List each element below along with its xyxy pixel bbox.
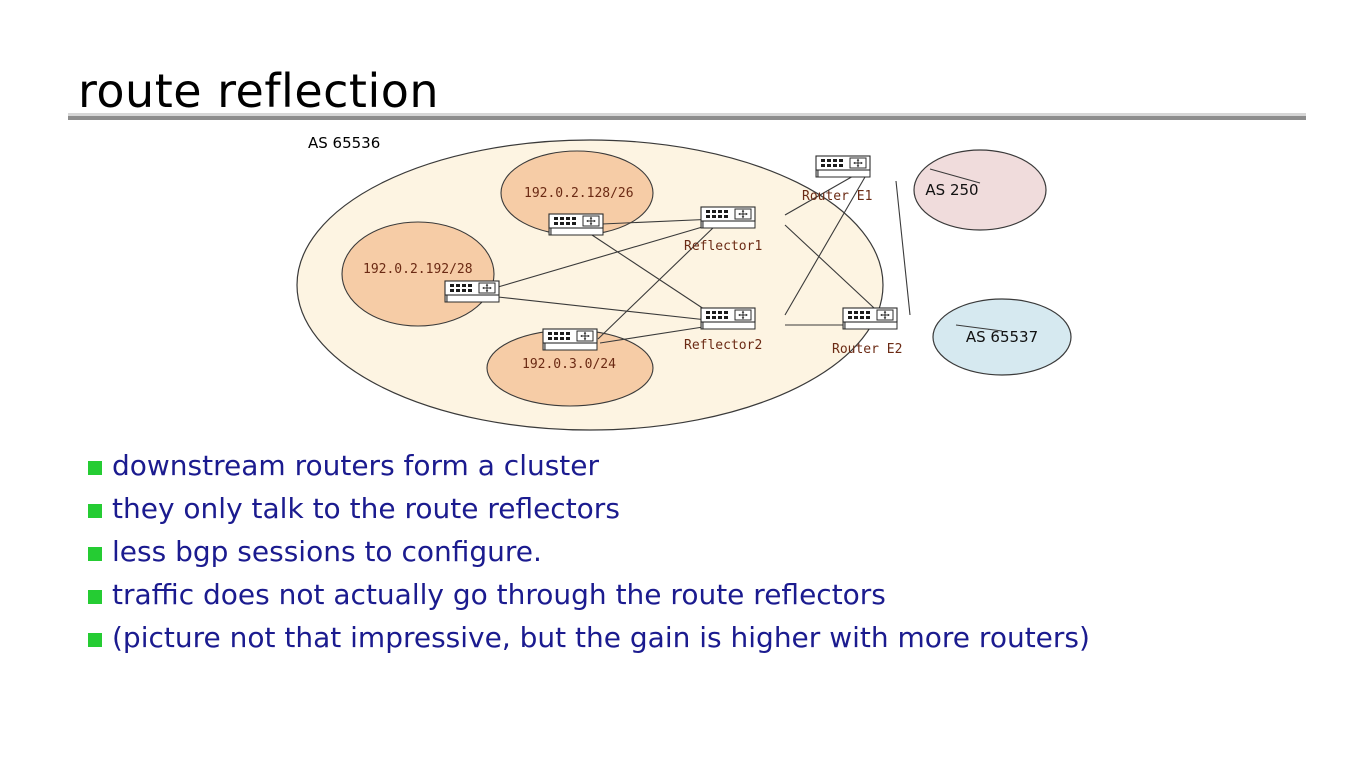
router-icon-router-e1[interactable] <box>816 156 870 177</box>
page-title: route reflection <box>78 64 439 118</box>
bullet-text: less bgp sessions to configure. <box>112 538 542 566</box>
router-label-router-e2: Router E2 <box>832 342 902 357</box>
router-icon-router-e2[interactable] <box>843 308 897 329</box>
router-label-reflector1: Reflector1 <box>684 239 762 254</box>
bullet-text: traffic does not actually go through the… <box>112 581 886 609</box>
bullet-square-icon <box>88 504 102 518</box>
subnet-label-bottom: 192.0.3.0/24 <box>522 357 616 372</box>
list-item: traffic does not actually go through the… <box>88 573 1308 616</box>
bullet-square-icon <box>88 547 102 561</box>
title-divider <box>68 113 1306 121</box>
router-icon-subnet-top[interactable] <box>549 214 603 235</box>
network-diagram: AS 65536 192.0.2.128/26 192.0.2.192/28 1… <box>280 125 1100 445</box>
list-item: downstream routers form a cluster <box>88 444 1308 487</box>
as-250-label: AS 250 <box>925 181 978 199</box>
bullet-text: they only talk to the route reflectors <box>112 495 620 523</box>
bullet-text: (picture not that impressive, but the ga… <box>112 624 1090 652</box>
router-label-reflector2: Reflector2 <box>684 338 762 353</box>
as-65537-label: AS 65537 <box>966 328 1038 346</box>
router-icon-reflector2[interactable] <box>701 308 755 329</box>
bullet-square-icon <box>88 461 102 475</box>
bullet-text: downstream routers form a cluster <box>112 452 599 480</box>
subnet-label-left: 192.0.2.192/28 <box>363 262 473 277</box>
bullet-list: downstream routers form a cluster they o… <box>88 444 1308 659</box>
subnet-label-top: 192.0.2.128/26 <box>524 186 634 201</box>
list-item: less bgp sessions to configure. <box>88 530 1308 573</box>
list-item: (picture not that impressive, but the ga… <box>88 616 1308 659</box>
list-item: they only talk to the route reflectors <box>88 487 1308 530</box>
router-icon-subnet-left[interactable] <box>445 281 499 302</box>
router-icon-reflector1[interactable] <box>701 207 755 228</box>
router-label-router-e1: Router E1 <box>802 189 872 204</box>
title-divider-shadow <box>68 116 1306 120</box>
router-icon-subnet-bottom[interactable] <box>543 329 597 350</box>
bullet-square-icon <box>88 590 102 604</box>
bullet-square-icon <box>88 633 102 647</box>
as-65536-label: AS 65536 <box>308 134 380 152</box>
